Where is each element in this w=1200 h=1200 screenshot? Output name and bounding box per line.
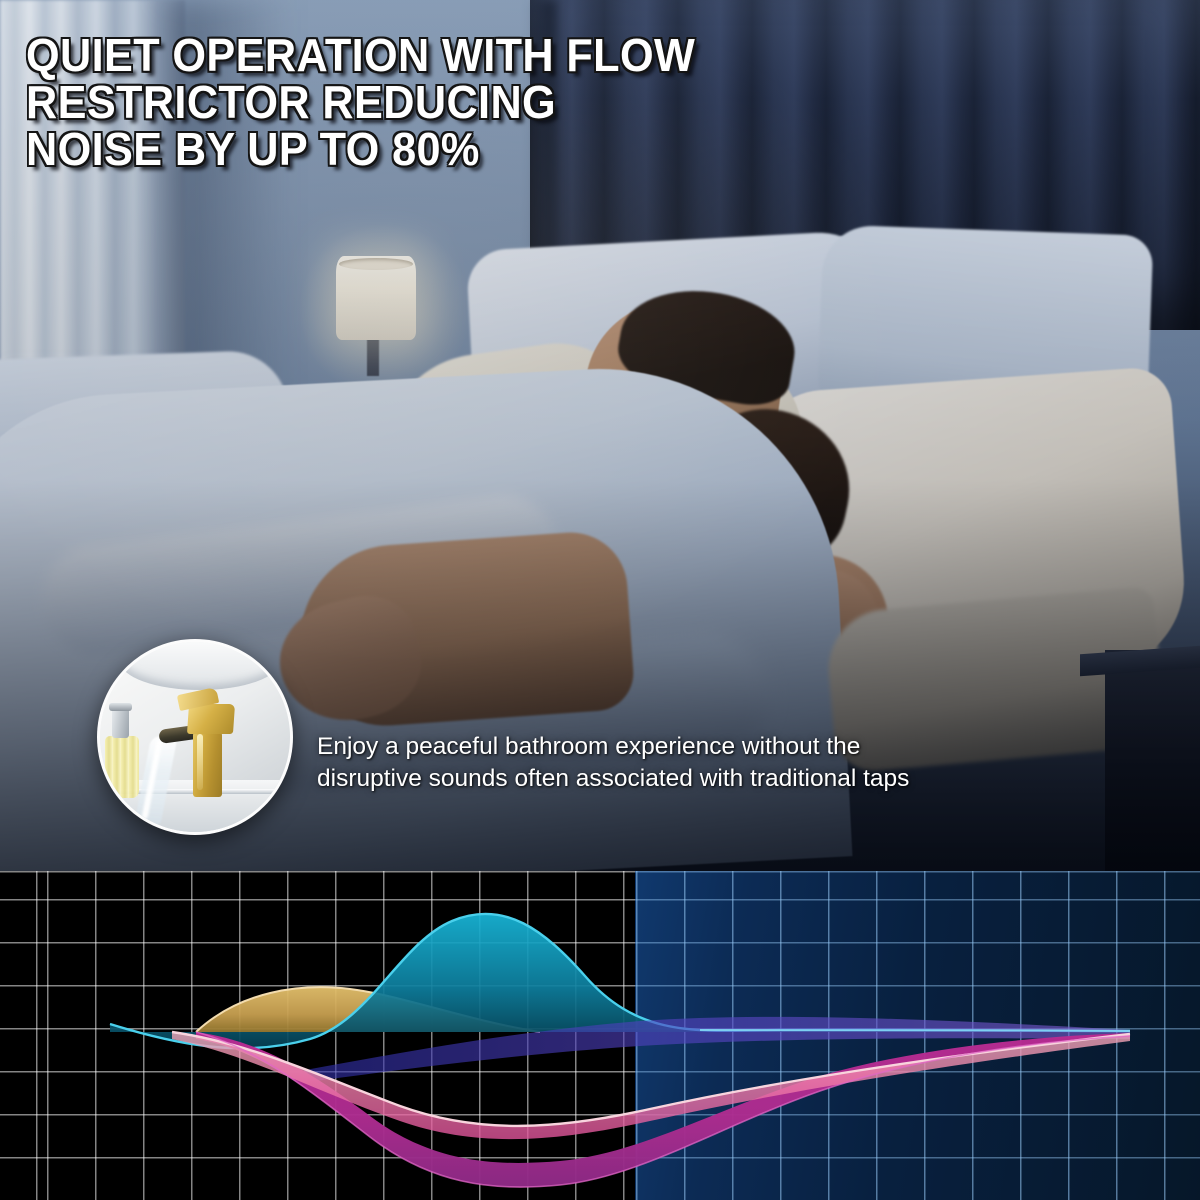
faucet-head xyxy=(187,704,235,734)
page-title: QUIET OPERATION WITH FLOW RESTRICTOR RED… xyxy=(26,32,853,173)
bedside-lamp-icon xyxy=(336,256,416,340)
faucet-body xyxy=(193,730,222,797)
waveform-chart xyxy=(0,871,1200,1200)
nightstand xyxy=(1105,650,1200,872)
product-marketing-image: QUIET OPERATION WITH FLOW RESTRICTOR RED… xyxy=(0,0,1200,1200)
soap-dispenser-pump xyxy=(112,708,129,738)
noise-comparison-panel: Others Ours xyxy=(0,871,1200,1200)
wave-line-flat-ours xyxy=(700,1030,1130,1031)
soap-dispenser-bottle xyxy=(105,736,139,798)
feature-caption: Enjoy a peaceful bathroom experience wit… xyxy=(317,731,997,796)
faucet-photo-inset xyxy=(97,639,293,835)
